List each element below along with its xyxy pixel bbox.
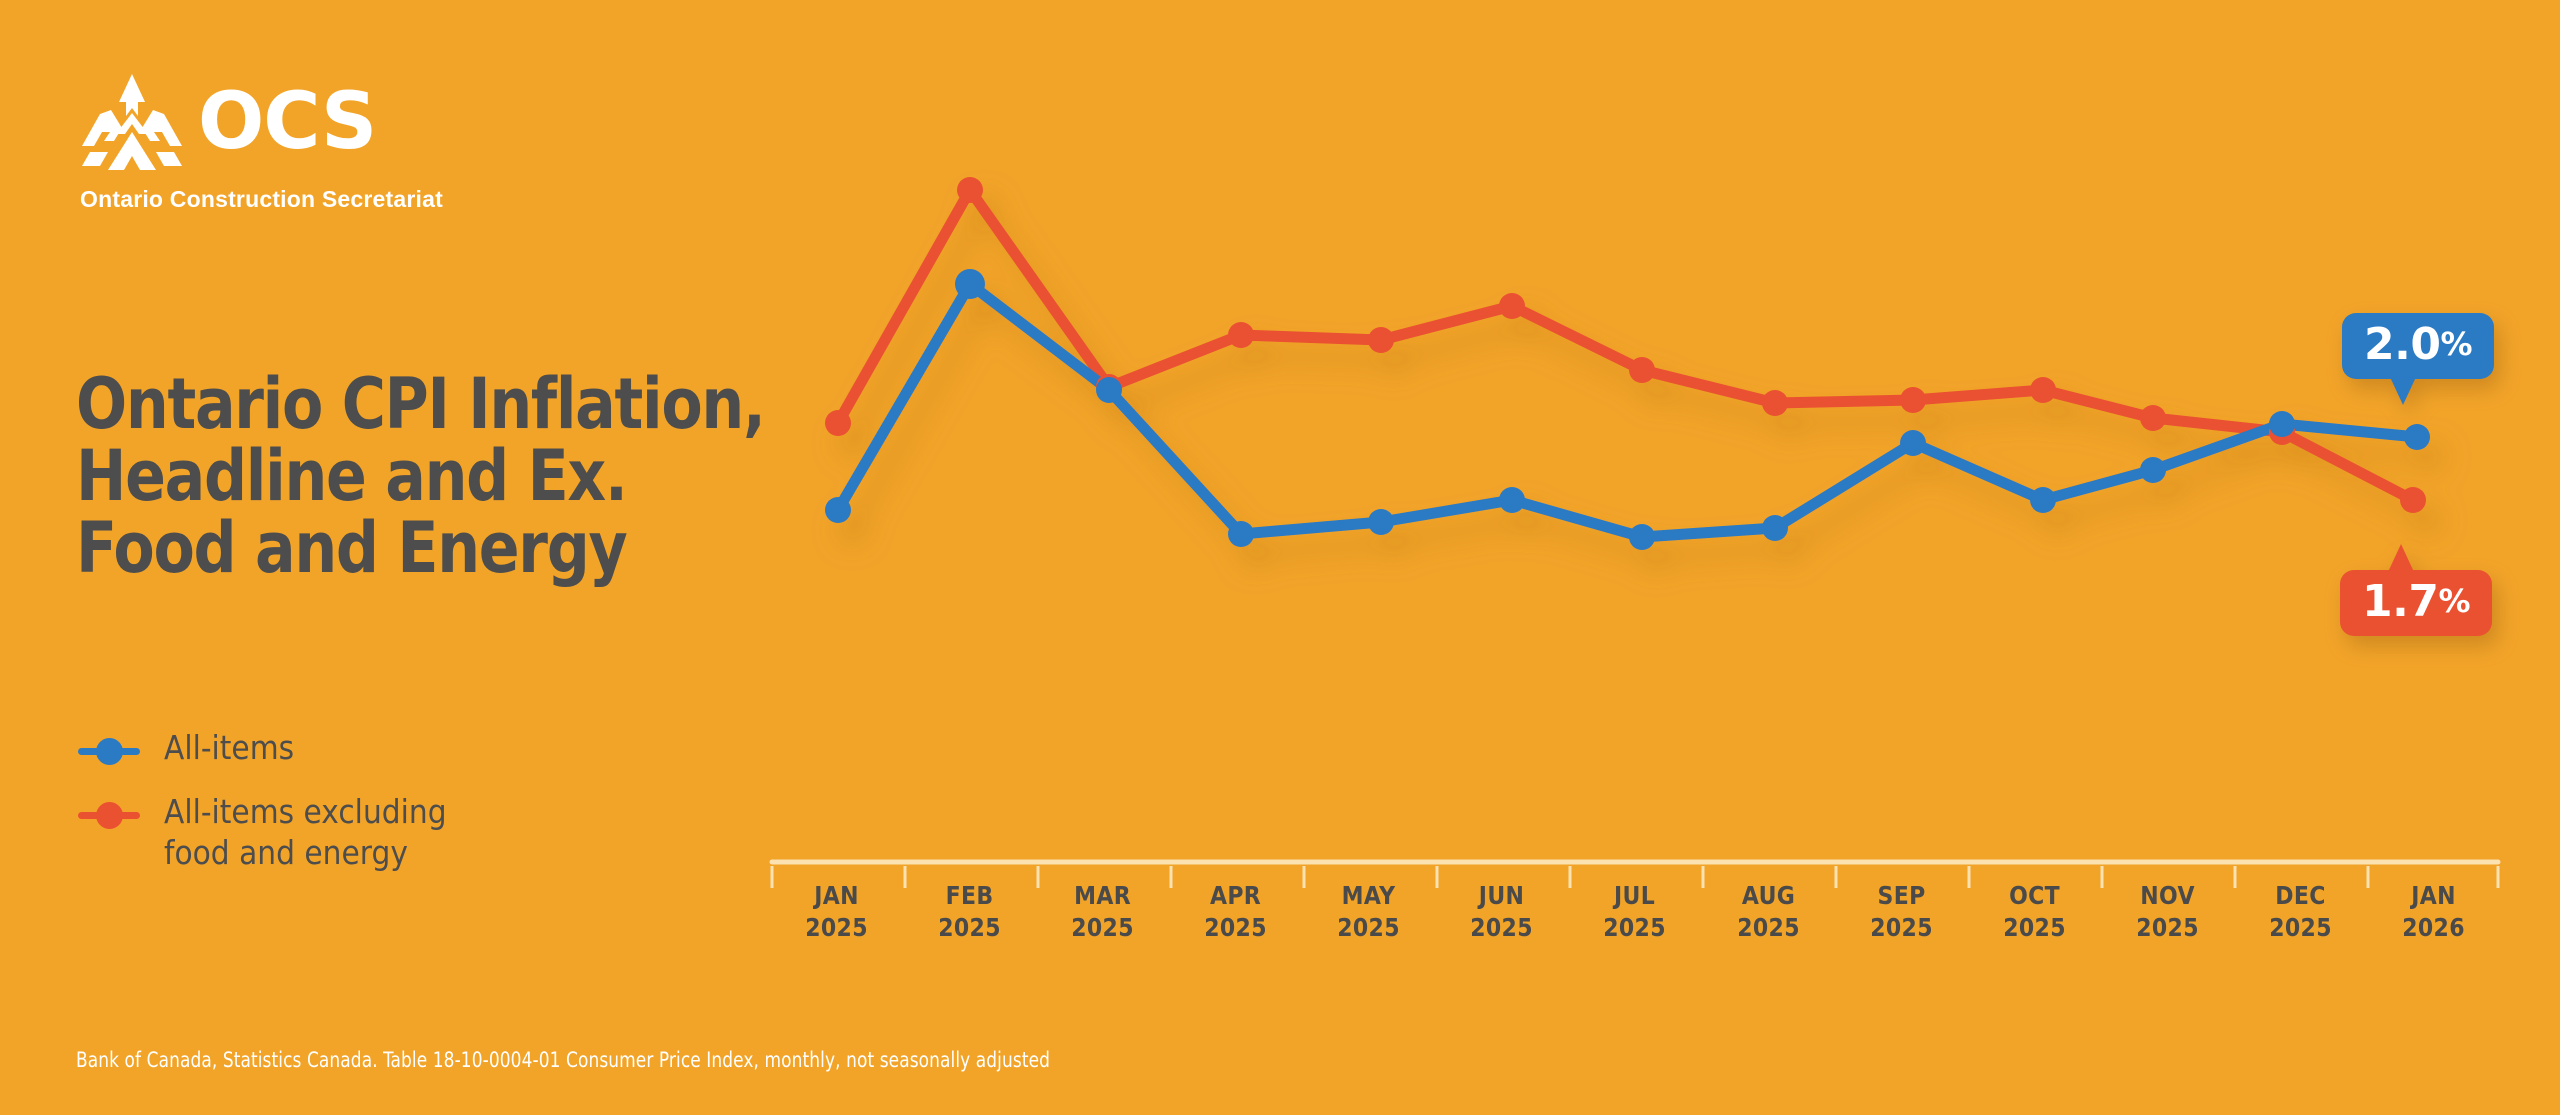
title-line-3: Food and Energy	[76, 512, 730, 584]
x-tick-jun-2025: JUN 2025	[1435, 880, 1568, 944]
series-line-core	[838, 190, 2413, 500]
x-tick-may-2025: MAY 2025	[1302, 880, 1435, 944]
series-markers-all-items	[825, 269, 2430, 550]
x-tick-feb-2025: FEB 2025	[903, 880, 1036, 944]
x-tick-jul-2025: JUL 2025	[1568, 880, 1701, 944]
callout-core-number: 1.7	[2362, 576, 2438, 627]
series-line-all-items	[838, 284, 2417, 537]
page-title: Ontario CPI Inflation, Headline and Ex. …	[76, 368, 730, 584]
title-line-1: Ontario CPI Inflation,	[76, 368, 730, 440]
brand-tagline: Ontario Construction Secretariat	[80, 186, 498, 213]
callout-core-unit: %	[2438, 582, 2470, 620]
chart-legend: All-items All-items excluding food and e…	[78, 728, 478, 897]
x-tick-sep-2025: SEP 2025	[1835, 880, 1968, 944]
ocs-wordmark: OCS	[198, 83, 376, 161]
x-tick-oct-2025: OCT 2025	[1968, 880, 2101, 944]
legend-item-core[interactable]: All-items excluding food and energy	[78, 792, 478, 873]
legend-item-all-items[interactable]: All-items	[78, 728, 478, 768]
callout-all-items-unit: %	[2440, 325, 2472, 363]
x-tick-apr-2025: APR 2025	[1169, 880, 1302, 944]
callout-all-items-value: 2.0%	[2342, 313, 2494, 379]
x-axis-labels: JAN 2025 FEB 2025 MAR 2025 APR 2025 MAY …	[770, 880, 2500, 944]
ocs-triangle-logo-icon	[78, 72, 186, 172]
x-tick-dec-2025: DEC 2025	[2234, 880, 2367, 944]
callout-core-value: 1.7%	[2340, 570, 2492, 636]
callout-all-items-number: 2.0	[2364, 319, 2440, 370]
x-tick-jan-2026: JAN 2026	[2367, 880, 2500, 944]
source-footnote: Bank of Canada, Statistics Canada. Table…	[76, 1048, 1050, 1072]
x-tick-nov-2025: NOV 2025	[2101, 880, 2234, 944]
x-tick-mar-2025: MAR 2025	[1036, 880, 1169, 944]
x-tick-jan-2025: JAN 2025	[770, 880, 903, 944]
legend-marker-core-icon	[78, 798, 140, 832]
legend-marker-all-items-icon	[78, 734, 140, 768]
legend-label-core: All-items excluding food and energy	[164, 792, 447, 873]
infographic-canvas: OCS Ontario Construction Secretariat Ont…	[0, 0, 2560, 1115]
x-tick-aug-2025: AUG 2025	[1702, 880, 1835, 944]
legend-label-all-items: All-items	[164, 728, 294, 768]
brand-logo: OCS Ontario Construction Secretariat	[78, 72, 498, 213]
series-markers-core	[825, 177, 2426, 513]
title-line-2: Headline and Ex.	[76, 440, 730, 512]
